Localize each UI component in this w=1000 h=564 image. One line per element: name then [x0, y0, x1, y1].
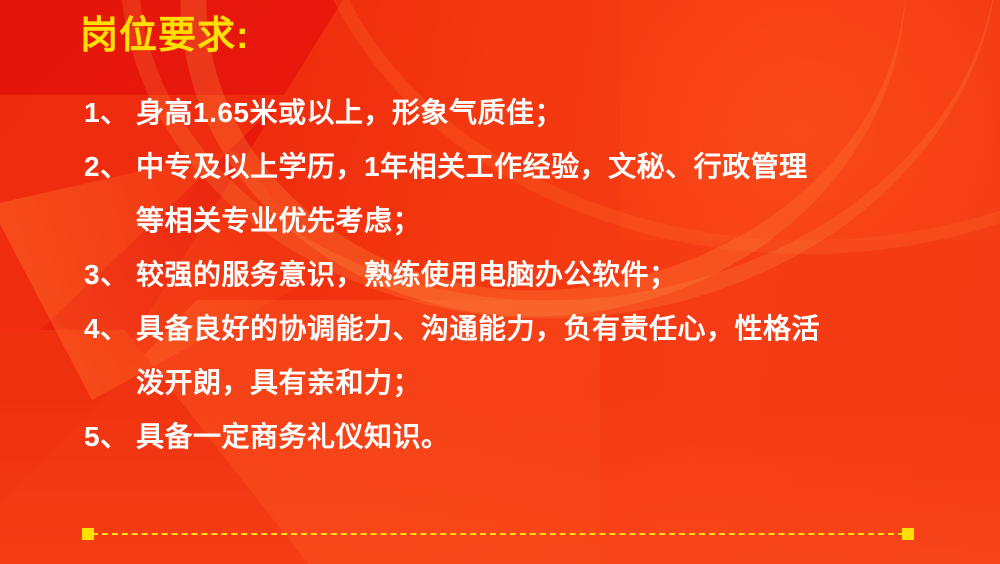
page-title: 岗位要求: — [80, 14, 250, 60]
list-item-body: 身高1.65米或以上，形象气质佳； — [136, 86, 944, 140]
footer-divider — [82, 528, 914, 540]
list-item-line: 等相关专业优先考虑； — [136, 194, 944, 248]
list-item: 1、 身高1.65米或以上，形象气质佳； — [84, 86, 944, 140]
list-item-body: 具备良好的协调能力、沟通能力，负有责任心，性格活 泼开朗，具有亲和力； — [136, 302, 944, 410]
slide-content: 岗位要求: 1、 身高1.65米或以上，形象气质佳； 2、 中专及以上学历，1年… — [0, 0, 1000, 564]
slide-root: 岗位要求: 1、 身高1.65米或以上，形象气质佳； 2、 中专及以上学历，1年… — [0, 0, 1000, 564]
list-item-number: 3、 — [84, 248, 136, 302]
list-item-line: 具备良好的协调能力、沟通能力，负有责任心，性格活 — [136, 302, 944, 356]
list-item-body: 中专及以上学历，1年相关工作经验，文秘、行政管理 等相关专业优先考虑； — [136, 140, 944, 248]
list-item-line: 较强的服务意识，熟练使用电脑办公软件； — [136, 248, 944, 302]
list-item: 5、 具备一定商务礼仪知识。 — [84, 410, 944, 464]
list-item-number: 5、 — [84, 410, 136, 464]
list-item-number: 4、 — [84, 302, 136, 356]
divider-right-cap — [902, 528, 914, 540]
list-item: 2、 中专及以上学历，1年相关工作经验，文秘、行政管理 等相关专业优先考虑； — [84, 140, 944, 248]
list-item-body: 较强的服务意识，熟练使用电脑办公软件； — [136, 248, 944, 302]
list-item-line: 中专及以上学历，1年相关工作经验，文秘、行政管理 — [136, 140, 944, 194]
requirements-list: 1、 身高1.65米或以上，形象气质佳； 2、 中专及以上学历，1年相关工作经验… — [84, 86, 944, 464]
list-item-number: 2、 — [84, 140, 136, 194]
list-item-line: 身高1.65米或以上，形象气质佳； — [136, 86, 944, 140]
list-item-line: 具备一定商务礼仪知识。 — [136, 410, 944, 464]
list-item-body: 具备一定商务礼仪知识。 — [136, 410, 944, 464]
list-item-line: 泼开朗，具有亲和力； — [136, 356, 944, 410]
list-item: 3、 较强的服务意识，熟练使用电脑办公软件； — [84, 248, 944, 302]
list-item: 4、 具备良好的协调能力、沟通能力，负有责任心，性格活 泼开朗，具有亲和力； — [84, 302, 944, 410]
divider-dashed-line — [92, 533, 904, 535]
list-item-number: 1、 — [84, 86, 136, 140]
